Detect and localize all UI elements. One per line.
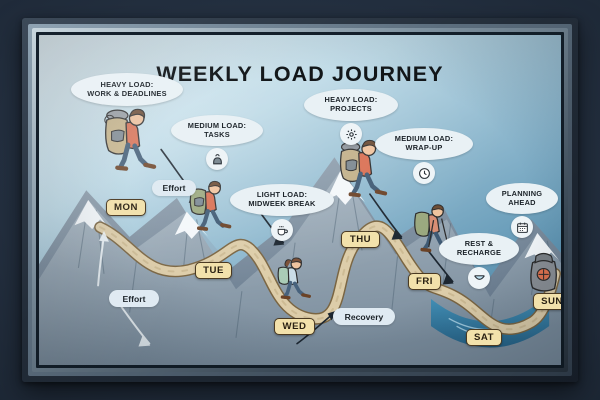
callout-thu-line1: HEAVY LOAD: <box>325 95 378 104</box>
callout-sun-line1: PLANNING <box>502 189 543 198</box>
callout-fri: MEDIUM LOAD: WRAP-UP <box>375 128 473 160</box>
day-badge-sat[interactable]: SAT <box>466 329 502 346</box>
day-badge-wed[interactable]: WED <box>274 318 315 335</box>
callout-fri-line2: WRAP-UP <box>405 143 442 152</box>
clock-icon <box>413 162 435 184</box>
callout-mon-line2: WORK & DEADLINES <box>87 89 167 98</box>
calendar-icon <box>511 216 533 238</box>
day-badge-sun[interactable]: SUN <box>533 293 561 310</box>
callout-thu: HEAVY LOAD: PROJECTS <box>304 89 398 121</box>
annotation-recovery: Recovery <box>333 308 395 325</box>
callout-sun: PLANNING AHEAD <box>486 183 558 214</box>
callout-tue-line1: MEDIUM LOAD: <box>188 121 246 130</box>
callout-fri-line1: MEDIUM LOAD: <box>395 134 453 143</box>
callout-sat-line1: REST & <box>465 239 494 248</box>
frame-bevel-inner: WEEKLY LOAD JOURNEY HEAVY LOAD: WORK & D… <box>32 28 568 372</box>
day-badge-thu[interactable]: THU <box>341 231 380 248</box>
callout-sat-line2: RECHARGE <box>457 248 501 257</box>
gear-icon <box>340 123 362 145</box>
frame-bevel-outer: WEEKLY LOAD JOURNEY HEAVY LOAD: WORK & D… <box>28 24 572 376</box>
hammock-icon <box>468 267 490 289</box>
callout-wed: LIGHT LOAD: MIDWEEK BREAK <box>230 184 334 216</box>
callout-wed-line1: LIGHT LOAD: <box>257 190 307 199</box>
callout-thu-line2: PROJECTS <box>330 104 372 113</box>
picture-frame: WEEKLY LOAD JOURNEY HEAVY LOAD: WORK & D… <box>22 18 578 382</box>
annotation-effort-upper: Effort <box>152 180 196 196</box>
callout-sat: REST & RECHARGE <box>439 233 519 265</box>
day-badge-fri[interactable]: FRI <box>408 273 441 290</box>
callout-mon-line1: HEAVY LOAD: <box>101 80 154 89</box>
weight-icon <box>206 148 228 170</box>
callout-tue: MEDIUM LOAD: TASKS <box>171 115 263 146</box>
callout-sun-line2: AHEAD <box>508 198 536 207</box>
callout-mon: HEAVY LOAD: WORK & DEADLINES <box>71 73 183 106</box>
annotation-effort-lower: Effort <box>109 290 159 307</box>
callout-wed-line2: MIDWEEK BREAK <box>248 199 315 208</box>
day-badge-mon[interactable]: MON <box>106 199 146 216</box>
frame-liner: WEEKLY LOAD JOURNEY HEAVY LOAD: WORK & D… <box>36 32 564 368</box>
callout-tue-line2: TASKS <box>204 130 230 139</box>
coffee-cup-icon <box>271 219 293 241</box>
wall-background: WEEKLY LOAD JOURNEY HEAVY LOAD: WORK & D… <box>0 0 600 400</box>
day-badge-tue[interactable]: TUE <box>195 262 232 279</box>
poster-mat: WEEKLY LOAD JOURNEY HEAVY LOAD: WORK & D… <box>39 35 561 365</box>
